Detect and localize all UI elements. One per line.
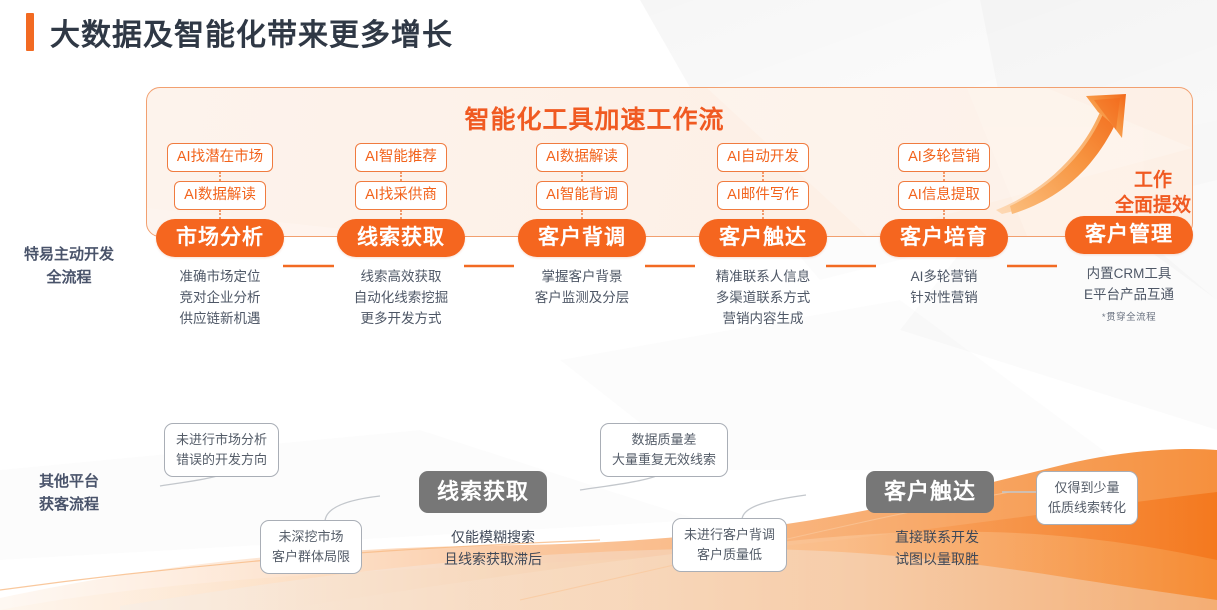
axis-label-other-flow-line2: 获客流程 bbox=[2, 493, 136, 516]
desc-line: 准确市场定位 bbox=[134, 266, 306, 287]
callout-line: 低质线索转化 bbox=[1048, 498, 1126, 518]
step-footnote: *贯穿全流程 bbox=[1039, 307, 1217, 328]
note-line: 直接联系开发 bbox=[862, 526, 1012, 548]
ai-tag[interactable]: AI多轮营销 bbox=[898, 143, 990, 172]
ai-tag[interactable]: AI智能推荐 bbox=[355, 143, 447, 172]
callout-line: 数据质量差 bbox=[612, 430, 716, 450]
axis-label-main-flow-line2: 全流程 bbox=[2, 266, 136, 289]
step-pill[interactable]: 客户触达 bbox=[699, 219, 827, 257]
desc-line: 针对性营销 bbox=[858, 287, 1030, 308]
step-description: 准确市场定位 竞对企业分析 供应链新机遇 bbox=[134, 266, 306, 329]
callout-line: 未深挖市场 bbox=[272, 527, 350, 547]
dotted-connector bbox=[581, 172, 583, 181]
other-flow-callout-3: 数据质量差 大量重复无效线索 bbox=[600, 423, 728, 477]
axis-label-other-flow-line1: 其他平台 bbox=[2, 470, 136, 493]
note-line: 且线索获取滞后 bbox=[418, 548, 568, 570]
desc-line: 内置CRM工具 bbox=[1039, 263, 1217, 284]
other-flow-note-2: 直接联系开发 试图以量取胜 bbox=[862, 526, 1012, 570]
desc-line: 竞对企业分析 bbox=[134, 287, 306, 308]
callout-line: 未进行市场分析 bbox=[176, 430, 267, 450]
page-header: 大数据及智能化带来更多增长 bbox=[26, 10, 453, 54]
other-flow-callout-2: 未深挖市场 客户群体局限 bbox=[260, 520, 362, 574]
flow-column-5: AI多轮营销 AI信息提取 客户培育 AI多轮营销 针对性营销 bbox=[858, 143, 1030, 308]
ai-tag[interactable]: AI数据解读 bbox=[174, 181, 266, 210]
dotted-connector bbox=[762, 172, 764, 181]
desc-line: 精准联系人信息 bbox=[677, 266, 849, 287]
dotted-connector bbox=[400, 172, 402, 181]
desc-line: 营销内容生成 bbox=[677, 308, 849, 329]
dotted-connector bbox=[219, 210, 221, 219]
step-pill[interactable]: 线索获取 bbox=[337, 219, 465, 257]
efficiency-callout: 工作 全面提效 bbox=[1107, 168, 1199, 218]
desc-line: AI多轮营销 bbox=[858, 266, 1030, 287]
efficiency-line1: 工作 bbox=[1107, 168, 1199, 193]
callout-line: 仅得到少量 bbox=[1048, 478, 1126, 498]
desc-line: E平台产品互通 bbox=[1039, 284, 1217, 305]
note-line: 试图以量取胜 bbox=[862, 548, 1012, 570]
other-flow-callout-1: 未进行市场分析 错误的开发方向 bbox=[164, 423, 279, 477]
ai-tag[interactable]: AI数据解读 bbox=[536, 143, 628, 172]
callout-line: 大量重复无效线索 bbox=[612, 450, 716, 470]
note-line: 仅能模糊搜索 bbox=[418, 526, 568, 548]
axis-label-main-flow: 特易主动开发 全流程 bbox=[2, 243, 136, 289]
ai-tag[interactable]: AI找采供商 bbox=[355, 181, 447, 210]
dotted-connector bbox=[943, 210, 945, 219]
callout-line: 未进行客户背调 bbox=[684, 525, 775, 545]
desc-line: 自动化线索挖掘 bbox=[315, 287, 487, 308]
title-accent-bar bbox=[26, 13, 34, 51]
step-description: 线索高效获取 自动化线索挖掘 更多开发方式 bbox=[315, 266, 487, 329]
other-flow-callout-5: 仅得到少量 低质线索转化 bbox=[1036, 471, 1138, 525]
step-description: 精准联系人信息 多渠道联系方式 营销内容生成 bbox=[677, 266, 849, 329]
dotted-connector bbox=[581, 210, 583, 219]
ai-tag[interactable]: AI信息提取 bbox=[898, 181, 990, 210]
other-flow-note-1: 仅能模糊搜索 且线索获取滞后 bbox=[418, 526, 568, 570]
efficiency-line2: 全面提效 bbox=[1107, 193, 1199, 218]
step-description: 掌握客户背景 客户监测及分层 bbox=[496, 266, 668, 308]
desc-line: 掌握客户背景 bbox=[496, 266, 668, 287]
panel-heading: 智能化工具加速工作流 bbox=[147, 100, 1192, 136]
axis-label-other-flow: 其他平台 获客流程 bbox=[2, 470, 136, 516]
callout-line: 错误的开发方向 bbox=[176, 450, 267, 470]
step-pill[interactable]: 市场分析 bbox=[156, 219, 284, 257]
step-description: AI多轮营销 针对性营销 bbox=[858, 266, 1030, 308]
other-flow-pill-1[interactable]: 线索获取 bbox=[419, 471, 547, 513]
step-pill[interactable]: 客户背调 bbox=[518, 219, 646, 257]
desc-line: 多渠道联系方式 bbox=[677, 287, 849, 308]
step-pill[interactable]: 客户管理 bbox=[1065, 216, 1193, 254]
step-description: 内置CRM工具 E平台产品互通 *贯穿全流程 bbox=[1039, 263, 1217, 328]
other-flow-callout-4: 未进行客户背调 客户质量低 bbox=[672, 518, 787, 572]
callout-line: 客户群体局限 bbox=[272, 547, 350, 567]
ai-tag[interactable]: AI邮件写作 bbox=[717, 181, 809, 210]
page-title: 大数据及智能化带来更多增长 bbox=[50, 10, 453, 54]
dotted-connector bbox=[762, 210, 764, 219]
step-pill[interactable]: 客户培育 bbox=[880, 219, 1008, 257]
flow-column-1: AI找潜在市场 AI数据解读 市场分析 准确市场定位 竞对企业分析 供应链新机遇 bbox=[134, 143, 306, 329]
dotted-connector bbox=[219, 172, 221, 181]
dotted-connector bbox=[400, 210, 402, 219]
desc-line: 更多开发方式 bbox=[315, 308, 487, 329]
other-flow-pill-2[interactable]: 客户触达 bbox=[866, 471, 994, 513]
desc-line: 供应链新机遇 bbox=[134, 308, 306, 329]
flow-column-2: AI智能推荐 AI找采供商 线索获取 线索高效获取 自动化线索挖掘 更多开发方式 bbox=[315, 143, 487, 329]
axis-label-main-flow-line1: 特易主动开发 bbox=[2, 243, 136, 266]
callout-line: 客户质量低 bbox=[684, 545, 775, 565]
desc-line: 客户监测及分层 bbox=[496, 287, 668, 308]
ai-tag[interactable]: AI找潜在市场 bbox=[167, 143, 273, 172]
flow-column-3: AI数据解读 AI智能背调 客户背调 掌握客户背景 客户监测及分层 bbox=[496, 143, 668, 308]
desc-line: 线索高效获取 bbox=[315, 266, 487, 287]
ai-tag[interactable]: AI自动开发 bbox=[717, 143, 809, 172]
dotted-connector bbox=[943, 172, 945, 181]
flow-column-4: AI自动开发 AI邮件写作 客户触达 精准联系人信息 多渠道联系方式 营销内容生… bbox=[677, 143, 849, 329]
ai-tag[interactable]: AI智能背调 bbox=[536, 181, 628, 210]
